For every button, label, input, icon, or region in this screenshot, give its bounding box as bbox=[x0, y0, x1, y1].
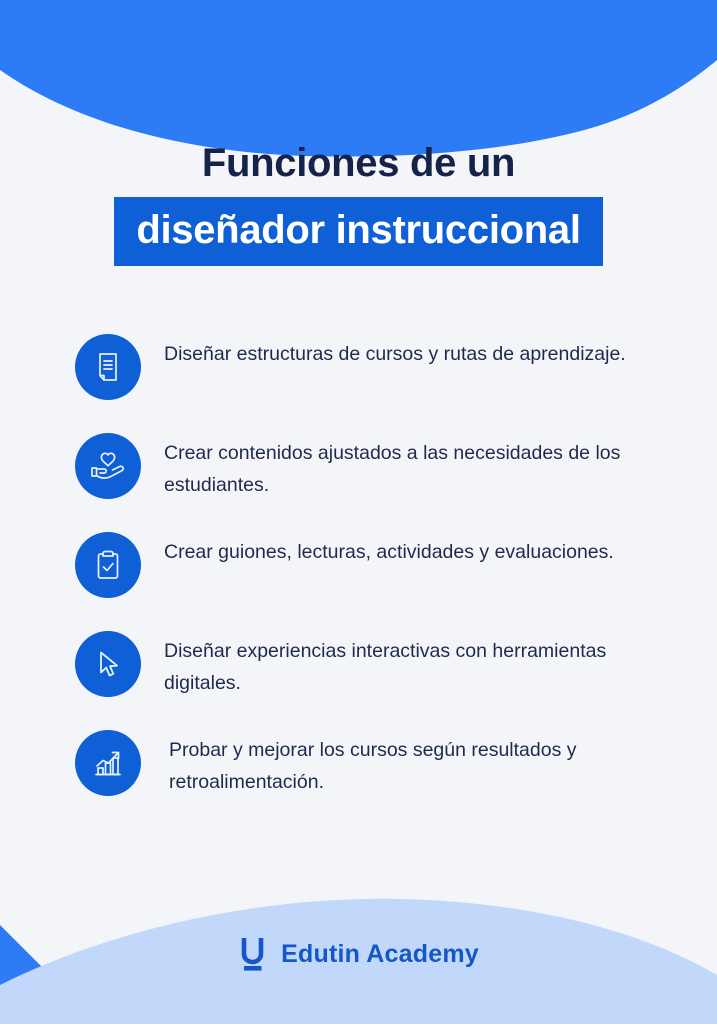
brand-footer: Edutin Academy bbox=[0, 934, 717, 974]
brand-name: Edutin Academy bbox=[281, 940, 479, 969]
edutin-u-logo-icon bbox=[238, 934, 268, 974]
cursor-pointer-icon bbox=[75, 631, 141, 697]
list-item-label: Diseñar estructuras de cursos y rutas de… bbox=[164, 332, 626, 371]
list-item: Diseñar experiencias interactivas con he… bbox=[0, 629, 717, 699]
list-item-label: Probar y mejorar los cursos según result… bbox=[169, 728, 669, 798]
hand-heart-icon bbox=[75, 433, 141, 499]
poster-header: Funciones de un diseñador instruccional bbox=[0, 0, 717, 266]
growth-chart-icon bbox=[75, 730, 141, 796]
list-item: Diseñar estructuras de cursos y rutas de… bbox=[0, 332, 717, 402]
list-item: Probar y mejorar los cursos según result… bbox=[0, 728, 717, 798]
list-item: Crear contenidos ajustados a las necesid… bbox=[0, 431, 717, 501]
title-line-1: Funciones de un bbox=[0, 140, 717, 186]
document-lines-icon bbox=[75, 334, 141, 400]
title-highlight-wrapper: diseñador instruccional bbox=[0, 197, 717, 266]
title-highlight-badge: diseñador instruccional bbox=[114, 197, 602, 266]
duties-list: Diseñar estructuras de cursos y rutas de… bbox=[0, 332, 717, 798]
clipboard-check-icon bbox=[75, 532, 141, 598]
list-item: Crear guiones, lecturas, actividades y e… bbox=[0, 530, 717, 600]
list-item-label: Diseñar experiencias interactivas con he… bbox=[164, 629, 664, 699]
list-item-label: Crear guiones, lecturas, actividades y e… bbox=[164, 530, 614, 569]
list-item-label: Crear contenidos ajustados a las necesid… bbox=[164, 431, 664, 501]
